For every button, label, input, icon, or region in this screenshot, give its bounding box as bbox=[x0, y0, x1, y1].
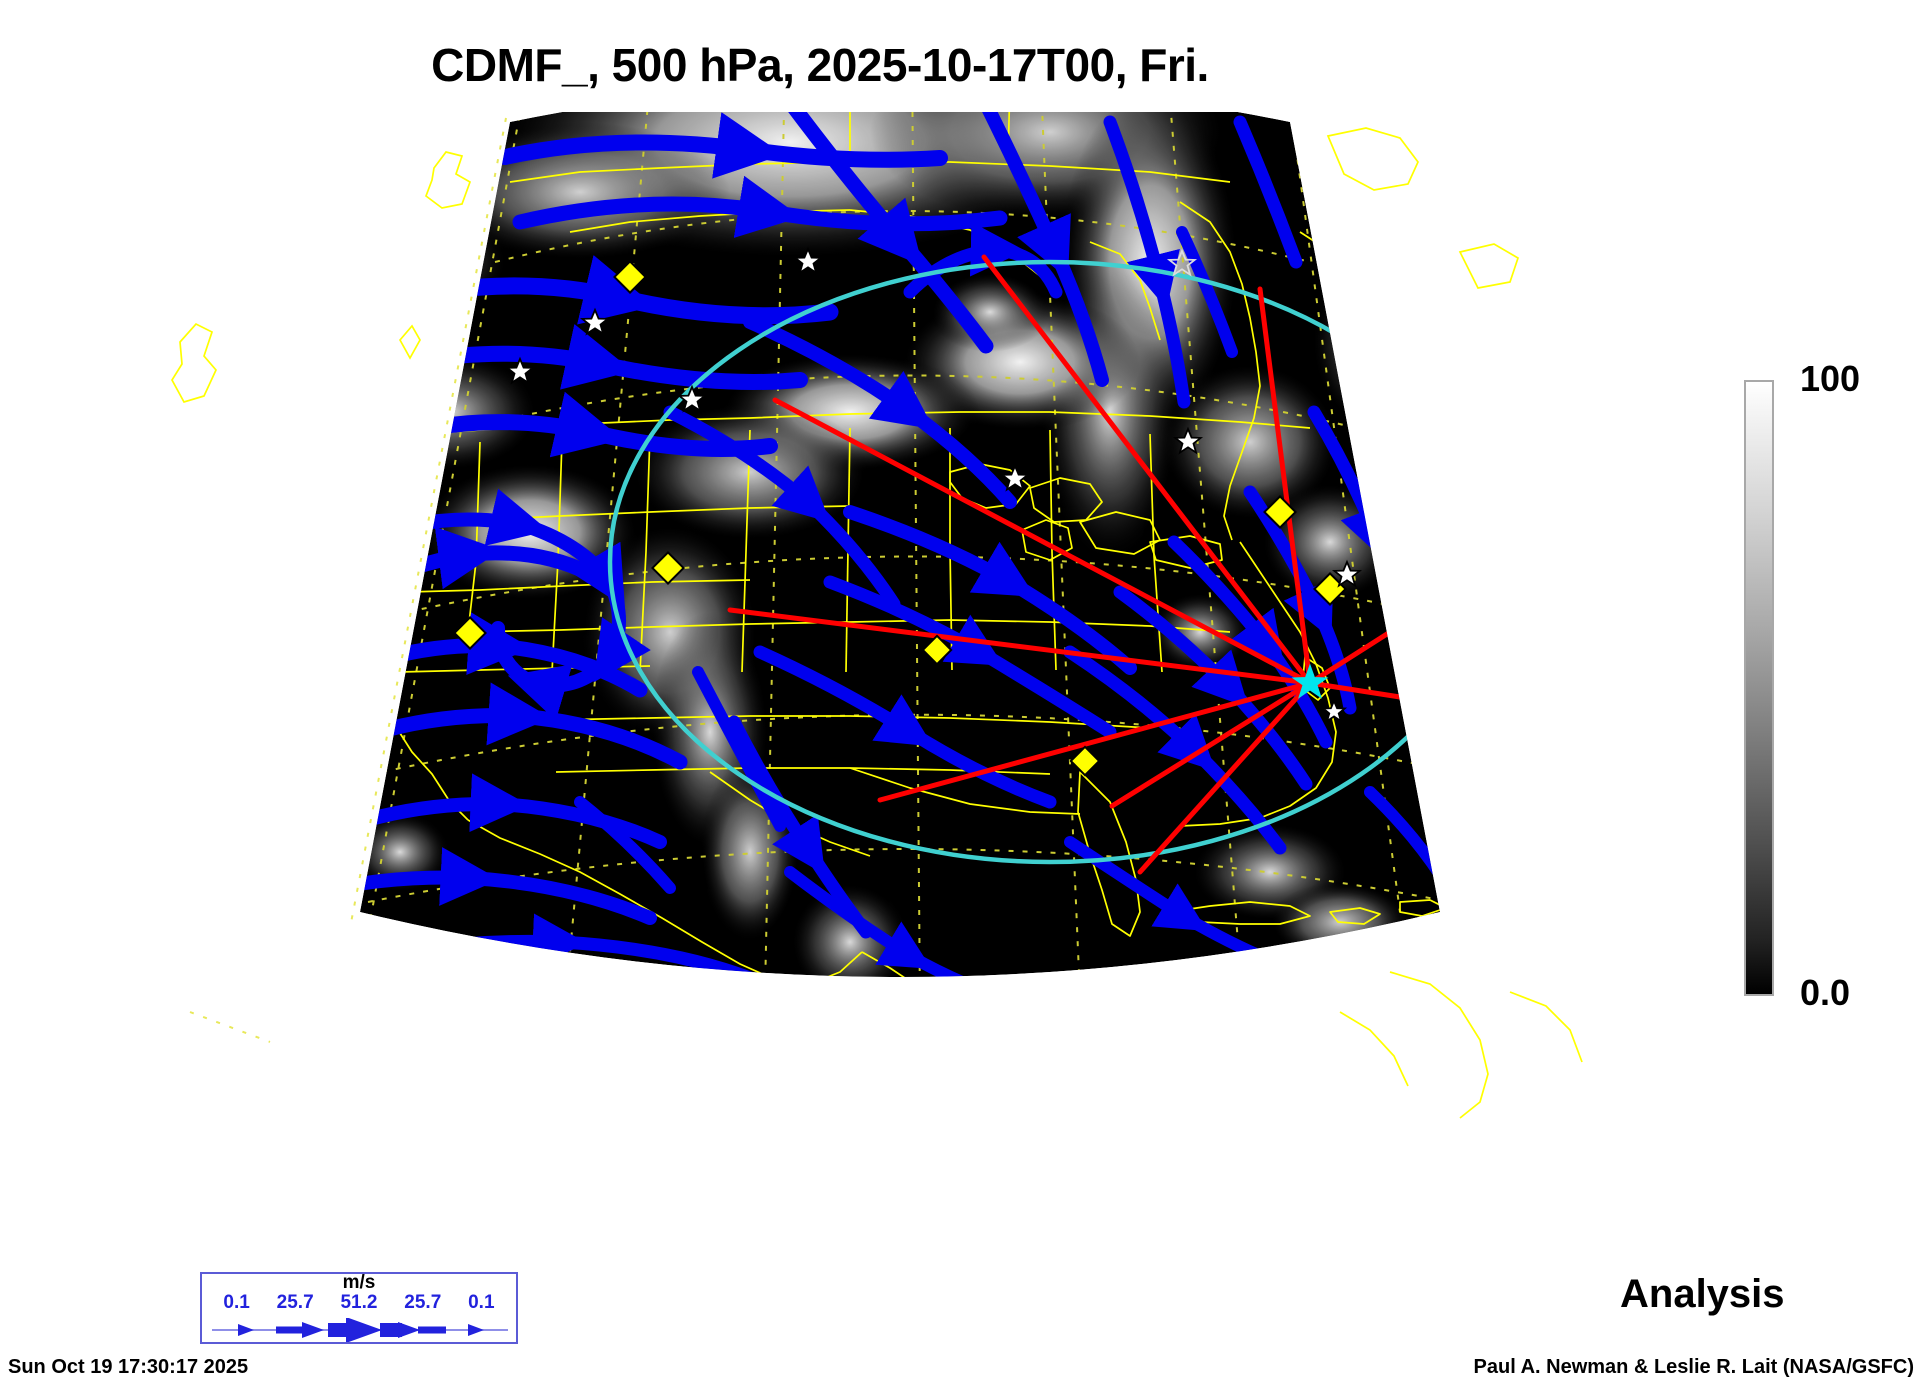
wind-key-value: 0.1 bbox=[223, 1292, 249, 1314]
wind-key-arrow-glyph bbox=[210, 1318, 510, 1342]
colorbar-min-label: 0.0 bbox=[1800, 972, 1850, 1014]
colorbar-max-label: 100 bbox=[1800, 358, 1860, 400]
wind-key-value: 0.1 bbox=[468, 1292, 494, 1314]
weather-map[interactable] bbox=[150, 112, 1650, 1122]
wind-key-value: 51.2 bbox=[340, 1292, 377, 1314]
map-panel[interactable] bbox=[150, 112, 1650, 1122]
analysis-label: Analysis bbox=[1620, 1272, 1785, 1317]
colorbar-gradient bbox=[1744, 380, 1774, 996]
generation-timestamp: Sun Oct 19 17:30:17 2025 bbox=[8, 1356, 248, 1379]
wind-key-units-label: m/s bbox=[202, 1272, 516, 1294]
wind-key-value: 25.7 bbox=[404, 1292, 441, 1314]
page-title: CDMF_, 500 hPa, 2025-10-17T00, Fri. bbox=[0, 38, 1640, 92]
wind-speed-key: m/s 0.1 25.7 51.2 25.7 0.1 bbox=[200, 1272, 518, 1344]
author-credit: Paul A. Newman & Leslie R. Lait (NASA/GS… bbox=[1474, 1356, 1914, 1379]
wind-key-values: 0.1 25.7 51.2 25.7 0.1 bbox=[202, 1292, 516, 1314]
wind-key-value: 25.7 bbox=[277, 1292, 314, 1314]
colorbar: 100 0.0 bbox=[1744, 380, 1774, 996]
